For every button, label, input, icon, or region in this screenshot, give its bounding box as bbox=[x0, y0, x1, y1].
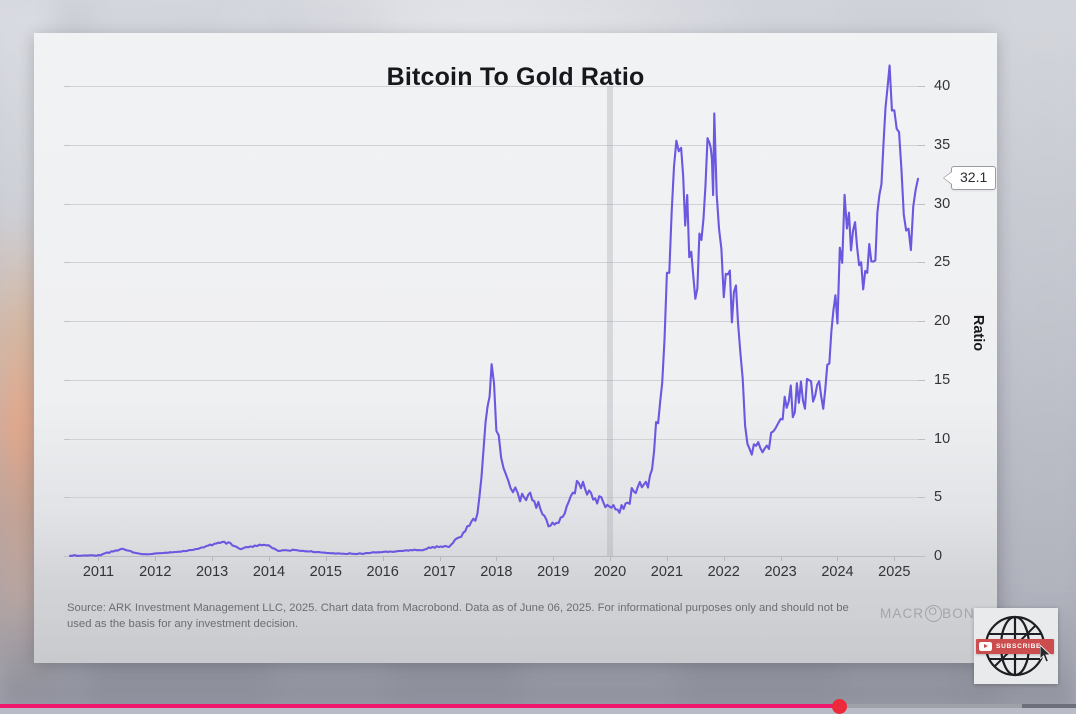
mouse-cursor-pointer bbox=[1040, 645, 1053, 663]
x-axis-tick bbox=[837, 556, 838, 561]
x-axis-tick-label: 2020 bbox=[594, 564, 626, 580]
x-axis-tick bbox=[269, 556, 270, 561]
video-progress-knob[interactable] bbox=[832, 699, 847, 714]
x-axis: 2011201220132014201520162017201820192020… bbox=[70, 556, 956, 586]
x-axis-tick bbox=[383, 556, 384, 561]
y-axis-tick-label: 10 bbox=[934, 431, 950, 447]
y-axis-tick-label: 15 bbox=[934, 372, 950, 388]
x-axis-tick-label: 2021 bbox=[651, 564, 683, 580]
x-axis-tick-label: 2022 bbox=[708, 564, 740, 580]
video-progress-fill bbox=[0, 704, 839, 708]
video-progress-buffer bbox=[839, 704, 1022, 708]
y-axis-tick-label: 30 bbox=[934, 196, 950, 212]
x-axis-tick bbox=[724, 556, 725, 561]
video-progress-bar[interactable] bbox=[0, 704, 1076, 708]
macrobond-logo-circle-o: O bbox=[925, 605, 942, 622]
x-axis-tick bbox=[440, 556, 441, 561]
y-axis-title: Ratio bbox=[970, 315, 986, 351]
y-axis-tick-label: 40 bbox=[934, 78, 950, 94]
y-axis-tick-label: 5 bbox=[934, 489, 942, 505]
x-axis-tick bbox=[212, 556, 213, 561]
x-axis-tick-label: 2024 bbox=[821, 564, 853, 580]
source-note: Source: ARK Investment Management LLC, 2… bbox=[67, 600, 867, 633]
youtube-play-icon bbox=[979, 642, 992, 651]
x-axis-tick-label: 2019 bbox=[537, 564, 569, 580]
x-axis-tick-label: 2015 bbox=[310, 564, 342, 580]
x-axis-tick bbox=[496, 556, 497, 561]
x-axis-tick bbox=[610, 556, 611, 561]
x-axis-tick-label: 2016 bbox=[367, 564, 399, 580]
x-axis-tick bbox=[667, 556, 668, 561]
x-axis-tick bbox=[553, 556, 554, 561]
x-axis-tick-label: 2013 bbox=[196, 564, 228, 580]
y-axis-tick-label: 35 bbox=[934, 137, 950, 153]
chart-card: Bitcoin To Gold Ratio 0510152025303540 2… bbox=[34, 33, 997, 663]
x-axis-tick-label: 2011 bbox=[83, 564, 114, 580]
x-axis-tick bbox=[894, 556, 895, 561]
subscribe-button-label: SUBSCRIBE bbox=[996, 643, 1041, 650]
x-axis-tick-label: 2025 bbox=[878, 564, 910, 580]
x-axis-tick bbox=[326, 556, 327, 561]
x-axis-tick-label: 2017 bbox=[423, 564, 455, 580]
x-axis-tick bbox=[98, 556, 99, 561]
x-axis-tick bbox=[155, 556, 156, 561]
series-line-bitcoin-to-gold-ratio bbox=[70, 86, 956, 556]
x-axis-tick-label: 2014 bbox=[253, 564, 285, 580]
y-axis-tick-label: 25 bbox=[934, 254, 950, 270]
plot-area: 0510152025303540 bbox=[70, 86, 956, 556]
x-axis-tick-label: 2018 bbox=[480, 564, 512, 580]
y-axis-tick-label: 20 bbox=[934, 313, 950, 329]
macrobond-logo: MACR O BOND bbox=[880, 605, 986, 622]
x-axis-tick bbox=[781, 556, 782, 561]
macrobond-logo-part-1: MACR bbox=[880, 606, 924, 621]
x-axis-tick-label: 2012 bbox=[139, 564, 171, 580]
x-axis-tick-label: 2023 bbox=[764, 564, 796, 580]
last-value-callout: 32.1 bbox=[951, 166, 996, 190]
